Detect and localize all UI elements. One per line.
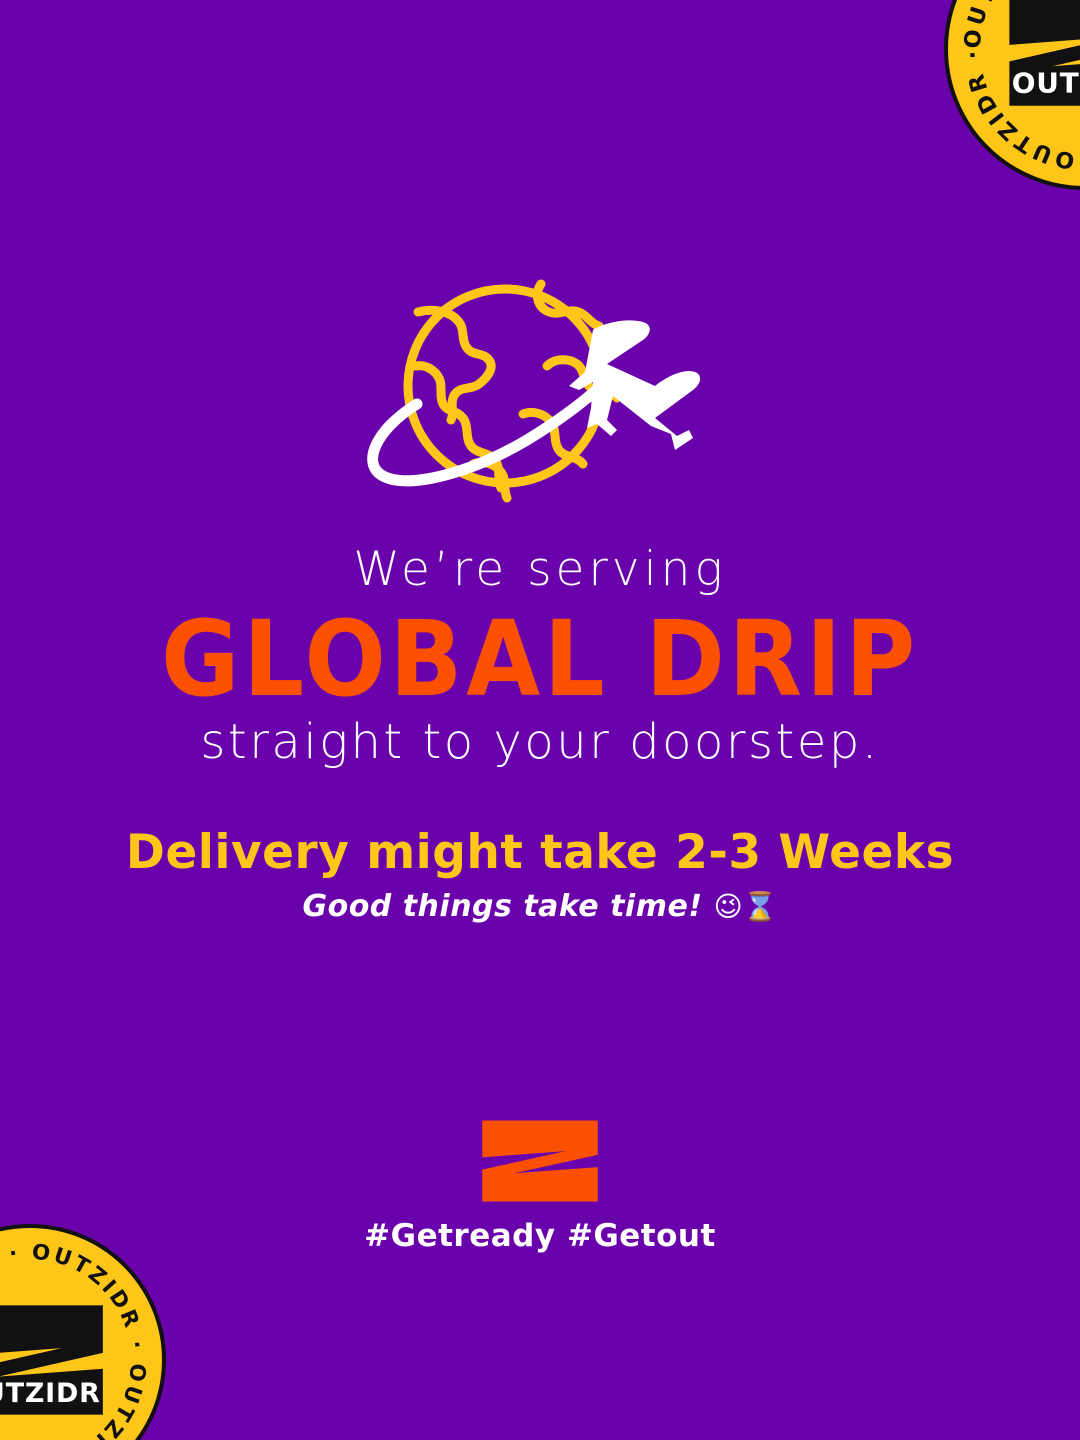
eyebrow-text: We’re serving xyxy=(0,545,1080,596)
badge-core-logo-top-right: OUTZIDR xyxy=(1003,0,1080,111)
badge-core-wordmark-top-right: OUTZIDR xyxy=(1012,67,1080,100)
poster-footer: #Getready #Getout xyxy=(0,1118,1080,1254)
headline-text: GLOBAL DRIP xyxy=(43,604,1037,714)
badge-core-logo-bottom-left: OUTZIDR xyxy=(0,1301,109,1420)
subline-text: straight to your doorstep. xyxy=(0,716,1080,769)
delivery-reassurance-text: Good things take time! xyxy=(302,889,702,924)
outzidr-z-logo xyxy=(478,1118,602,1204)
wink-and-hourglass-emoji: 😉⌛ xyxy=(713,890,777,923)
delivery-reassurance-line: Good things take time! 😉⌛ xyxy=(0,889,1080,925)
outzidr-stamp-badge-top-right: OUTZIDR · OUTZIDR · OUTZIDR · OUTZIDR · … xyxy=(944,0,1080,190)
outzidr-stamp-badge-bottom-left: OUTZIDR · OUTZIDR · OUTZIDR · OUTZIDR · … xyxy=(0,1224,166,1440)
delivery-estimate-text: Delivery might take 2-3 Weeks xyxy=(0,827,1080,879)
poster-copy-block: We’re serving GLOBAL DRIP straight to yo… xyxy=(0,545,1080,925)
promotional-poster: OUTZIDR · OUTZIDR · OUTZIDR · OUTZIDR · … xyxy=(0,0,1080,1440)
badge-core-wordmark-bottom-left: OUTZIDR xyxy=(0,1378,101,1409)
globe-with-airplane-illustration xyxy=(355,278,715,513)
hashtags-text: #Getready #Getout xyxy=(0,1218,1080,1254)
